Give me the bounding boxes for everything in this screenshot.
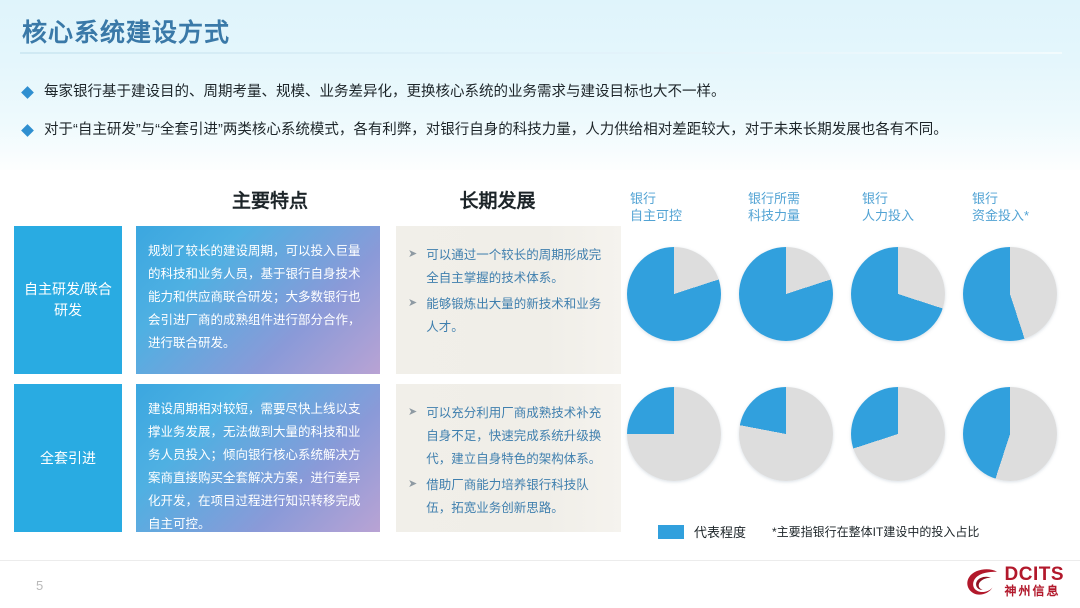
pie-column-header-line: 人力投入	[862, 207, 914, 224]
arrow-bullet-icon: ➤	[408, 405, 417, 418]
list-item-text: 借助厂商能力培养银行科技队伍，拓宽业务创新思路。	[426, 474, 611, 520]
list-item: ➤ 能够锻炼出大量的新技术和业务人才。	[404, 293, 611, 339]
chart-legend: 代表程度 *主要指银行在整体IT建设中的投入占比	[658, 522, 979, 541]
logo-en-text: DCITS	[1005, 566, 1065, 584]
column-header-longterm: 长期发展	[385, 186, 610, 213]
pie-slot	[730, 240, 842, 347]
pie-column-header-0: 银行 自主可控	[630, 190, 682, 224]
pie-chart	[627, 387, 721, 481]
list-item-text: 能够锻炼出大量的新技术和业务人才。	[426, 293, 611, 339]
legend-footnote: *主要指银行在整体IT建设中的投入占比	[772, 523, 979, 540]
row-label-cell: 自主研发/联合研发	[14, 226, 122, 374]
intro-bullet-item: 对于“自主研发”与“全套引进”两类核心系统模式，各有利弊，对银行自身的科技力量，…	[20, 120, 1065, 140]
pie-chart-grid	[618, 240, 1066, 487]
legend-label: 代表程度	[694, 522, 746, 541]
logo-text: DCITS 神州信息	[1005, 566, 1065, 599]
arrow-bullet-icon: ➤	[408, 296, 417, 309]
pie-column-header-line: 银行	[630, 190, 682, 207]
list-item: ➤ 借助厂商能力培养银行科技队伍，拓宽业务创新思路。	[404, 474, 611, 520]
legend-swatch-icon	[658, 525, 684, 539]
title-divider	[20, 52, 1062, 54]
pie-chart	[739, 247, 833, 341]
pie-column-header-2: 银行 人力投入	[862, 190, 914, 224]
pie-chart-row-0	[618, 240, 1066, 347]
comparison-table: 自主研发/联合研发 规划了较长的建设周期，可以投入巨量的科技和业务人员，基于银行…	[14, 226, 621, 542]
row-label-cell: 全套引进	[14, 384, 122, 532]
pie-slot	[954, 240, 1066, 347]
pie-slot	[730, 380, 842, 487]
dcits-swirl-icon	[964, 567, 1000, 599]
pie-chart	[627, 247, 721, 341]
pie-slot	[954, 380, 1066, 487]
row-longterm-cell: ➤ 可以充分利用厂商成熟技术补充自身不足，快速完成系统升级换代，建立自身特色的架…	[396, 384, 621, 532]
footer-divider	[0, 560, 1080, 561]
pie-slot	[618, 240, 730, 347]
slide-canvas: 核心系统建设方式 每家银行基于建设目的、周期考量、规模、业务差异化，更换核心系统…	[0, 0, 1080, 608]
pie-column-header-line: 自主可控	[630, 207, 682, 224]
company-logo: DCITS 神州信息	[964, 566, 1065, 599]
page-title: 核心系统建设方式	[22, 13, 230, 49]
table-row: 自主研发/联合研发 规划了较长的建设周期，可以投入巨量的科技和业务人员，基于银行…	[14, 226, 621, 374]
arrow-bullet-icon: ➤	[408, 477, 417, 490]
list-item: ➤ 可以充分利用厂商成熟技术补充自身不足，快速完成系统升级换代，建立自身特色的架…	[404, 402, 611, 471]
page-number: 5	[36, 578, 43, 593]
pie-chart-row-1	[618, 380, 1066, 487]
pie-slot	[618, 380, 730, 487]
pie-chart	[851, 247, 945, 341]
list-item: ➤ 可以通过一个较长的周期形成完全自主掌握的技术体系。	[404, 244, 611, 290]
pie-chart	[851, 387, 945, 481]
pie-chart	[963, 387, 1057, 481]
diamond-bullet-icon	[21, 86, 34, 99]
intro-bullet-text: 每家银行基于建设目的、周期考量、规模、业务差异化，更换核心系统的业务需求与建设目…	[44, 82, 726, 102]
arrow-bullet-icon: ➤	[408, 247, 417, 260]
intro-bullet-item: 每家银行基于建设目的、周期考量、规模、业务差异化，更换核心系统的业务需求与建设目…	[20, 82, 1065, 102]
pie-column-header-3: 银行 资金投入*	[972, 190, 1029, 224]
row-features-cell: 规划了较长的建设周期，可以投入巨量的科技和业务人员，基于银行自身技术能力和供应商…	[136, 226, 380, 374]
row-longterm-cell: ➤ 可以通过一个较长的周期形成完全自主掌握的技术体系。 ➤ 能够锻炼出大量的新技…	[396, 226, 621, 374]
pie-column-header-line: 银行所需	[748, 190, 800, 207]
column-header-features: 主要特点	[150, 186, 390, 213]
intro-bullet-list: 每家银行基于建设目的、周期考量、规模、业务差异化，更换核心系统的业务需求与建设目…	[20, 82, 1065, 158]
list-item-text: 可以充分利用厂商成熟技术补充自身不足，快速完成系统升级换代，建立自身特色的架构体…	[426, 402, 611, 471]
pie-column-header-line: 银行	[862, 190, 914, 207]
pie-slot	[842, 240, 954, 347]
pie-slot	[842, 380, 954, 487]
pie-column-header-1: 银行所需 科技力量	[748, 190, 800, 224]
row-features-cell: 建设周期相对较短，需要尽快上线以支撑业务发展，无法做到大量的科技和业务人员投入；…	[136, 384, 380, 532]
pie-chart	[739, 387, 833, 481]
pie-column-header-line: 科技力量	[748, 207, 800, 224]
logo-cn-text: 神州信息	[1005, 584, 1065, 599]
pie-column-header-line: 资金投入*	[972, 207, 1029, 224]
list-item-text: 可以通过一个较长的周期形成完全自主掌握的技术体系。	[426, 244, 611, 290]
table-row: 全套引进 建设周期相对较短，需要尽快上线以支撑业务发展，无法做到大量的科技和业务…	[14, 384, 621, 532]
pie-column-header-line: 银行	[972, 190, 1029, 207]
diamond-bullet-icon	[21, 124, 34, 137]
intro-bullet-text: 对于“自主研发”与“全套引进”两类核心系统模式，各有利弊，对银行自身的科技力量，…	[44, 120, 948, 140]
pie-chart	[963, 247, 1057, 341]
